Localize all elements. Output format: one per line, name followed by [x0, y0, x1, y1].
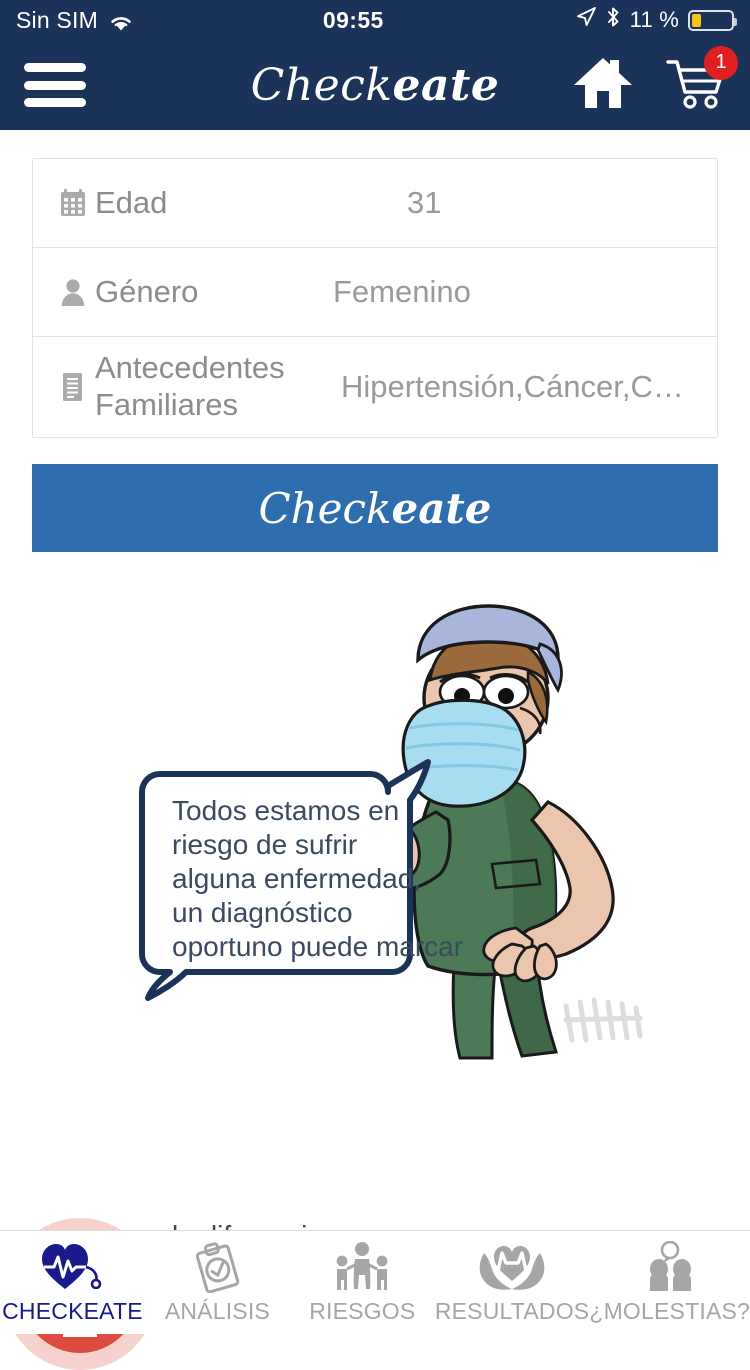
- app-screen: Sin SIM 09:55 11 %: [0, 0, 750, 1334]
- home-icon[interactable]: [572, 55, 634, 116]
- tab-analisis[interactable]: ANÁLISIS: [145, 1231, 290, 1334]
- carrier-label: Sin SIM: [16, 7, 98, 34]
- checkeate-button-label: Checkeate: [258, 484, 491, 533]
- document-list-icon: [51, 371, 95, 403]
- main-content: Edad 31 Género Femenino: [0, 158, 750, 1362]
- status-bar-right: 11 %: [575, 6, 734, 34]
- calendar-icon: [51, 188, 95, 218]
- table-row-family-history[interactable]: Antecedentes Familiares Hipertensión,Cán…: [33, 337, 717, 437]
- battery-fill: [692, 14, 701, 27]
- row-value-family-history: Hipertensión,Cáncer,C…: [323, 369, 699, 405]
- location-arrow-icon: [575, 6, 597, 34]
- hands-holding-heart-icon: [476, 1241, 548, 1293]
- person-icon: [51, 277, 95, 307]
- patient-info-card: Edad 31 Género Femenino: [32, 158, 718, 438]
- bluetooth-icon: [606, 6, 621, 34]
- doctor-face-mask: [403, 700, 525, 806]
- table-row-gender[interactable]: Género Femenino: [33, 248, 717, 337]
- cta-text-check: Check: [258, 484, 391, 533]
- speech-line-2: riesgo de sufrir: [172, 829, 357, 860]
- table-row-age[interactable]: Edad 31: [33, 159, 717, 248]
- speech-line-3: alguna enfermedad,: [172, 863, 421, 894]
- speech-line-1: Todos estamos en: [172, 795, 399, 826]
- tab-label-analisis: ANÁLISIS: [165, 1298, 270, 1325]
- speech-line-4: un diagnóstico: [172, 897, 353, 928]
- row-label-age: Edad: [95, 185, 323, 222]
- tab-label-riesgos: RIESGOS: [309, 1298, 415, 1325]
- row-value-age: 31: [323, 185, 699, 221]
- family-group-icon: [331, 1241, 393, 1293]
- cta-text-eate: eate: [391, 484, 491, 533]
- speech-line-5: oportuno puede marcar: [172, 931, 463, 962]
- floor-scribble: [566, 1000, 640, 1040]
- doctor-character-illustration: Todos estamos en riesgo de sufrir alguna…: [0, 588, 750, 1228]
- bottom-tab-bar: CHECKEATE ANÁLISIS: [0, 1230, 750, 1334]
- battery-percent-label: 11 %: [630, 7, 679, 33]
- brand-text-eate: eate: [393, 60, 500, 111]
- battery-icon: [688, 10, 734, 31]
- emergency-label: EMERGENCIA: [28, 1286, 133, 1303]
- clipboard-check-icon: [191, 1241, 243, 1293]
- status-bar-clock: 09:55: [323, 7, 384, 34]
- tab-label-molestias: ¿MOLESTIAS?: [589, 1298, 750, 1325]
- two-heads-speech-icon: [641, 1241, 699, 1293]
- cart-button[interactable]: 1: [666, 56, 726, 115]
- menu-bar-1: [24, 63, 86, 72]
- menu-bar-2: [24, 81, 86, 90]
- row-label-family-history: Antecedentes Familiares: [95, 350, 323, 423]
- header-actions: 1: [572, 55, 726, 116]
- tab-molestias[interactable]: ¿MOLESTIAS?: [589, 1231, 750, 1334]
- brand-text-check: Check: [251, 60, 393, 111]
- tab-riesgos[interactable]: RIESGOS: [290, 1231, 435, 1334]
- menu-bar-3: [24, 98, 86, 107]
- tab-label-resultados: RESULTADOS: [435, 1298, 590, 1325]
- tab-resultados[interactable]: RESULTADOS: [435, 1231, 590, 1334]
- wifi-icon: [108, 11, 132, 29]
- cart-badge-count: 1: [704, 46, 738, 80]
- row-label-gender: Género: [95, 274, 323, 311]
- app-header: Checkeate 1: [0, 40, 750, 130]
- status-bar: Sin SIM 09:55 11 %: [0, 0, 750, 40]
- status-bar-left: Sin SIM: [16, 7, 132, 34]
- hamburger-menu-icon[interactable]: [24, 63, 86, 107]
- row-value-gender: Femenino: [323, 274, 699, 310]
- tab-checkeate[interactable]: CHECKEATE: [0, 1231, 145, 1334]
- checkeate-submit-button[interactable]: Checkeate: [32, 464, 718, 552]
